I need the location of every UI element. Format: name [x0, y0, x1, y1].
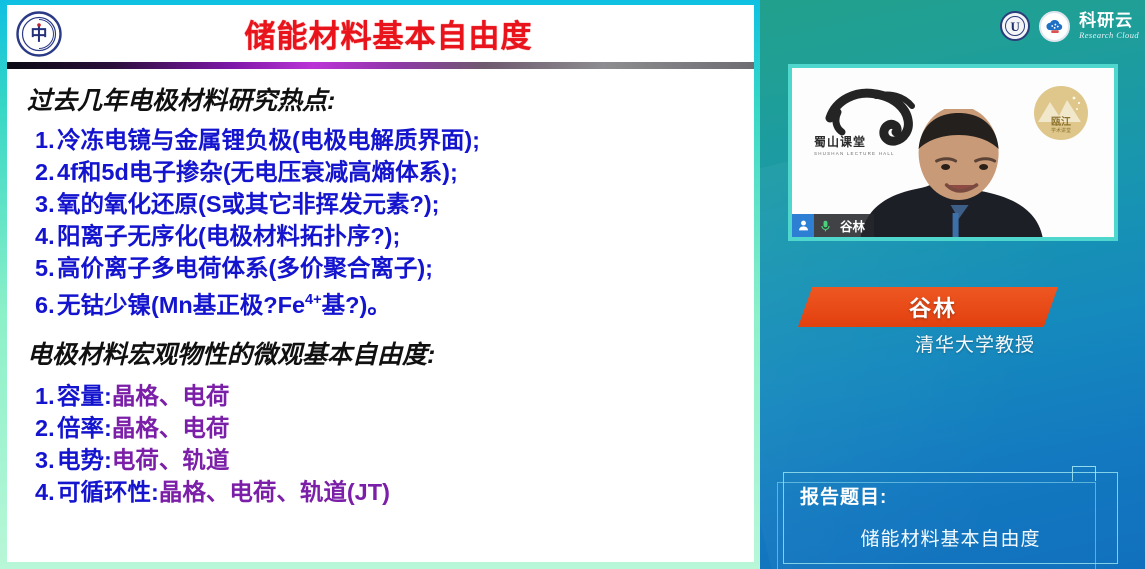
freedom-value: 晶格、电荷 — [112, 383, 230, 409]
freedom-label: 倍率: — [57, 415, 112, 441]
list-item-text: 容量:晶格、电荷 — [57, 381, 229, 412]
list-item-number: 4. — [21, 221, 57, 252]
list-item-text: 阳离子无序化(电极材料拓扑序?); — [57, 221, 400, 252]
list-item: 6. 无钴少镍(Mn基正极?Fe4+基?)。 — [21, 285, 754, 321]
speaker-portrait — [843, 109, 1073, 237]
list-item-number: 5. — [21, 253, 57, 284]
list-item: 2. 4f和5d电子掺杂(无电压衰减高熵体系); — [21, 157, 754, 188]
list-item-text: 氧的氧化还原(S或其它非挥发元素?); — [57, 189, 440, 220]
speaker-name-banner: 谷林 — [798, 287, 1058, 327]
freedoms-list: 1. 容量:晶格、电荷 2. 倍率:晶格、电荷 3. 电势:电荷、轨道 4. 可… — [21, 381, 754, 508]
slide-canvas: 中 储能材料基本自由度 过去几年电极材料研究热点: 1. 冷冻电镜与金属锂负极(… — [7, 5, 754, 562]
list-item: 4. 可循环性:晶格、电荷、轨道(JT) — [21, 477, 754, 508]
hotspot-list: 1. 冷冻电镜与金属锂负极(电极电解质界面); 2. 4f和5d电子掺杂(无电压… — [21, 125, 754, 321]
screen-root: 中 储能材料基本自由度 过去几年电极材料研究热点: 1. 冷冻电镜与金属锂负极(… — [0, 0, 1145, 569]
speaker-identity-block: 谷林 清华大学教授 — [760, 287, 1145, 357]
university-seal-icon: U — [1000, 11, 1030, 41]
report-label: 报告题目: — [800, 482, 887, 509]
list-item-text: 无钴少镍(Mn基正极?Fe4+基?)。 — [57, 285, 391, 321]
participant-person-icon — [792, 214, 814, 237]
list-item-number: 6. — [21, 290, 57, 321]
section-two-heading: 电极材料宏观物性的微观基本自由度: — [27, 335, 754, 371]
list-item: 4. 阳离子无序化(电极材料拓扑序?); — [21, 221, 754, 252]
list-item-number: 2. — [21, 157, 57, 188]
list-item-text: 4f和5d电子掺杂(无电压衰减高熵体系); — [57, 157, 458, 188]
freedom-label: 容量: — [57, 383, 112, 409]
list-item: 5. 高价离子多电荷体系(多价聚合离子); — [21, 253, 754, 284]
slide-body: 过去几年电极材料研究热点: 1. 冷冻电镜与金属锂负极(电极电解质界面); 2.… — [7, 69, 754, 508]
list-item-number: 2. — [21, 413, 57, 444]
page-title: 储能材料基本自由度 — [7, 11, 754, 56]
list-item-text: 可循环性:晶格、电荷、轨道(JT) — [57, 477, 390, 508]
list-item-text: 高价离子多电荷体系(多价聚合离子); — [57, 253, 433, 284]
speaker-video-tile[interactable]: 蜀山课堂 SHUSHAN LECTURE HALL 瓯江 学术讲堂 — [788, 64, 1118, 241]
section-one-heading: 过去几年电极材料研究热点: — [27, 81, 754, 117]
list-item-number: 1. — [21, 381, 57, 412]
participant-name: 谷林 — [840, 216, 865, 235]
list-item-number: 1. — [21, 125, 57, 156]
research-cloud-wordmark: 科研云 Research Cloud — [1079, 12, 1139, 40]
university-seal-letter: U — [1010, 20, 1019, 33]
superscript: 4+ — [305, 292, 322, 308]
list-item: 3. 氧的氧化还原(S或其它非挥发元素?); — [21, 189, 754, 220]
report-frame-notch-icon — [1072, 466, 1096, 481]
report-title: 储能材料基本自由度 — [783, 524, 1118, 551]
list-item-number: 3. — [21, 189, 57, 220]
brand-name-cn: 科研云 — [1079, 12, 1139, 29]
freedom-value: 晶格、电荷、轨道(JT) — [159, 479, 390, 505]
list-item-number: 4. — [21, 477, 57, 508]
slide-title-row: 中 储能材料基本自由度 — [7, 5, 754, 62]
list-item-text: 倍率:晶格、电荷 — [57, 413, 229, 444]
brand-name-en: Research Cloud — [1079, 31, 1139, 40]
freedom-value: 电荷、轨道 — [112, 447, 230, 473]
list-item: 2. 倍率:晶格、电荷 — [21, 413, 754, 444]
microphone-icon — [814, 214, 837, 237]
list-item-number: 3. — [21, 445, 57, 476]
list-item-text: 电势:电荷、轨道 — [57, 445, 229, 476]
svg-text:中: 中 — [31, 24, 48, 44]
video-frame: 蜀山课堂 SHUSHAN LECTURE HALL 瓯江 学术讲堂 — [792, 68, 1114, 237]
title-divider — [7, 62, 754, 69]
speaker-brand-panel: U 科研云 Research Cloud — [760, 0, 1145, 569]
list-item: 1. 容量:晶格、电荷 — [21, 381, 754, 412]
shared-slide-area[interactable]: 中 储能材料基本自由度 过去几年电极材料研究热点: 1. 冷冻电镜与金属锂负极(… — [0, 0, 760, 569]
freedom-label: 可循环性: — [57, 479, 159, 505]
freedom-label: 电势: — [57, 447, 112, 473]
institute-seal-icon: 中 — [16, 11, 62, 57]
freedom-value: 晶格、电荷 — [112, 415, 230, 441]
list-item: 3. 电势:电荷、轨道 — [21, 445, 754, 476]
list-item: 1. 冷冻电镜与金属锂负极(电极电解质界面); — [21, 125, 754, 156]
report-title-box: 报告题目: 储能材料基本自由度 — [783, 472, 1118, 564]
speaker-affiliation: 清华大学教授 — [872, 330, 1078, 357]
research-cloud-icon — [1039, 11, 1070, 42]
list-item-text: 冷冻电镜与金属锂负极(电极电解质界面); — [57, 125, 480, 156]
participant-name-tag: 谷林 — [792, 214, 874, 237]
speaker-name: 谷林 — [899, 291, 957, 323]
brand-logo-row: U 科研云 Research Cloud — [1000, 6, 1139, 46]
